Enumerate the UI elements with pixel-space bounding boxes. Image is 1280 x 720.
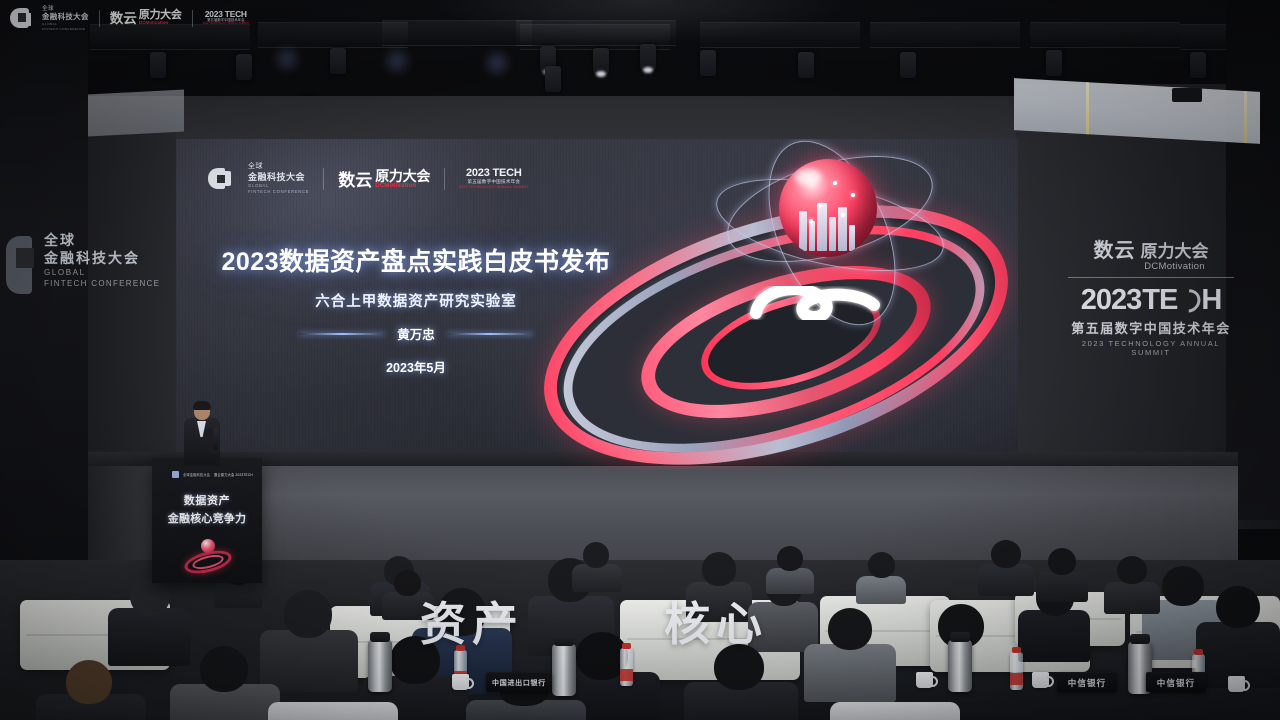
divider	[444, 168, 445, 190]
stage-front-word2: 核心	[664, 588, 768, 654]
led-title-block: 2023数据资产盘点实践白皮书发布 六合上甲数据资产研究实验室 黄万忠 2023…	[206, 247, 626, 376]
audience-member	[170, 646, 280, 720]
nameplate-label: 中国进出口银行	[492, 678, 546, 688]
wall-sign-left-en1: GLOBAL	[44, 267, 166, 278]
thermos	[368, 640, 392, 692]
audience-member	[36, 660, 146, 720]
audience-member	[1196, 586, 1280, 686]
wm-gfc-en1: GLOBAL	[42, 22, 89, 26]
audience-member	[268, 690, 398, 720]
wall-light-panel-left	[88, 89, 184, 136]
nameplate: 中国进出口银行	[486, 672, 552, 692]
dcm-logo: 数云 原力大会 DCMotivation	[338, 169, 430, 189]
podium-logo-strip: 全球金融科技大会 数云原力大会 2023TECH	[172, 471, 253, 478]
wall-sign-right-title: 原力大会	[1141, 237, 1209, 262]
stage-spotlight	[1046, 50, 1062, 76]
divider	[323, 168, 324, 190]
led-gfc-en2: FINTECH CONFERENCE	[248, 189, 309, 194]
wm-tech-badge: 2023 TECH 第五届数字中国技术年会 2023 TECHNOLOGY AN…	[203, 10, 250, 25]
thermos	[948, 640, 972, 692]
conference-scene: 全球 金融科技大会 GLOBAL FINTECH CONFERENCE 数云 原…	[0, 0, 1280, 720]
nameplate-label: 中信银行	[1157, 677, 1195, 689]
stage-spotlight	[236, 54, 252, 80]
tech-badge-line2: 第五届数字中国技术年会	[467, 180, 520, 185]
stage-spotlight	[150, 52, 166, 78]
nameplate: 中信银行	[1146, 672, 1206, 692]
audience-member	[766, 546, 814, 592]
wall-sign-left-cn1: 全球	[44, 232, 166, 249]
wm-gfc-en2: FINTECH CONFERENCE	[42, 27, 89, 31]
swoosh-icon	[1178, 289, 1200, 313]
dcm-cn: 数云	[338, 172, 372, 189]
wall-sign-right-cn2: 第五届数字中国技术年会	[1062, 318, 1240, 337]
nameplate-label: 中信银行	[1068, 677, 1106, 689]
podium-logo-cn: 全球金融科技大会	[183, 472, 210, 477]
divider	[1068, 277, 1234, 278]
audience-member	[830, 688, 960, 720]
led-speaker-name: 黄万忠	[397, 324, 435, 343]
wall-sign-right-tech-h: H	[1201, 284, 1221, 317]
divider	[192, 10, 193, 27]
wm-badge-line3: 2023 TECHNOLOGY ANNUAL SUMMIT	[203, 23, 250, 26]
podium: 全球金融科技大会 数云原力大会 2023TECH 数据资产 金融核心竞争力	[152, 458, 262, 583]
wm-gfc-cn1: 全球	[42, 6, 89, 12]
led-stage-screen: 全球 金融科技大会 GLOBAL FINTECH CONFERENCE 数云 原…	[176, 139, 1018, 469]
wall-sign-right-cn: 数云	[1094, 234, 1136, 263]
stage-spotlight	[798, 52, 814, 78]
audience-member	[572, 542, 622, 590]
orbital-sphere-graphic	[574, 157, 1014, 462]
wall-sign-right-subtitle: DCMotivation	[1141, 261, 1209, 272]
audience-member	[856, 552, 906, 602]
tea-cup	[916, 672, 933, 688]
podium-headline-1: 数据资产	[152, 492, 262, 508]
led-date: 2023年5月	[206, 357, 626, 376]
led-gfc-cn1: 全球	[248, 163, 309, 171]
led-gfc-cn2: 金融科技大会	[248, 172, 309, 182]
stage-spotlight	[900, 52, 916, 78]
wall-sign-left-en2: FINTECH CONFERENCE	[44, 278, 166, 289]
spiral-orb-icon	[182, 536, 234, 574]
dcm-title: 原力大会	[375, 169, 430, 183]
gfc-logo-icon	[172, 471, 179, 478]
swirl-logo-icon	[732, 269, 912, 341]
microphone-icon	[213, 428, 218, 450]
led-gfc-en1: GLOBAL	[248, 183, 309, 188]
wall-sign-right-tech-te: TE	[1142, 284, 1177, 317]
wm-gfc-cn2: 金融科技大会	[42, 13, 89, 21]
led-speaker-row: 黄万忠	[206, 324, 626, 343]
wm-dcm-logo: 数云 原力大会 DCMotivation	[110, 10, 182, 26]
tea-cup	[1032, 672, 1049, 688]
podium-headline-2: 金融核心竞争力	[152, 510, 262, 526]
stage-front-word1: 资产	[420, 588, 524, 654]
ceiling-equipment-box	[1172, 88, 1202, 102]
stage-spotlight	[700, 50, 716, 76]
led-headline: 2023数据资产盘点实践白皮书发布	[206, 247, 626, 277]
gfc-logo-icon	[208, 166, 234, 192]
stage-spotlight	[1190, 52, 1206, 78]
divider-left	[299, 333, 385, 335]
wall-sign-left-cn2: 金融科技大会	[44, 249, 166, 267]
tea-cup	[452, 674, 469, 690]
stage-front-wordmark: 资产 核心	[420, 588, 750, 654]
audience-member	[684, 644, 798, 720]
audience-member	[1036, 548, 1088, 600]
wall-sign-right-en2: 2023 TECHNOLOGY ANNUAL SUMMIT	[1062, 339, 1240, 357]
stage-spotlight	[640, 44, 656, 70]
led-logo-strip: 全球 金融科技大会 GLOBAL FINTECH CONFERENCE 数云 原…	[208, 163, 529, 194]
wm-dcm-cn: 数云	[110, 12, 137, 26]
gfc-logo-icon	[10, 7, 32, 29]
divider-right	[447, 333, 533, 335]
stage-spotlight	[593, 48, 609, 74]
tech-badge: 2023 TECH 第五届数字中国技术年会 2023 TECHNOLOGY AN…	[459, 168, 529, 189]
audience-member	[804, 608, 896, 698]
led-subheadline: 六合上甲数据资产研究实验室	[206, 290, 626, 311]
tech-badge-line3: 2023 TECHNOLOGY ANNUAL SUMMIT	[459, 186, 529, 189]
gfc-logo-icon	[6, 236, 36, 294]
podium-logo-cn2: 数云原力大会 2023TECH	[214, 472, 253, 477]
water-bottle	[1010, 652, 1023, 690]
wall-sign-right: 数云 原力大会 DCMotivation 2023 TE H 第五届数字中国技术…	[1062, 234, 1240, 357]
wall-sign-right-year: 2023	[1081, 284, 1142, 317]
wm-dcm-subtitle: DCMotivation	[139, 21, 182, 26]
audience-member	[978, 540, 1034, 594]
broadcast-watermark: 全球 金融科技大会 GLOBAL FINTECH CONFERENCE 数云 原…	[10, 4, 249, 32]
divider	[99, 10, 100, 27]
wall-sign-left: 全球 金融科技大会 GLOBAL FINTECH CONFERENCE	[6, 232, 166, 289]
tech-badge-line1: 2023 TECH	[466, 168, 522, 179]
audience-member	[1104, 556, 1160, 612]
glossy-sphere	[779, 159, 877, 257]
nameplate: 中信银行	[1057, 672, 1117, 692]
stage-spotlight	[330, 48, 346, 74]
stage-spotlight	[545, 66, 561, 92]
tea-cup	[1228, 676, 1245, 692]
dcm-subtitle: DCMotivation	[375, 183, 430, 189]
